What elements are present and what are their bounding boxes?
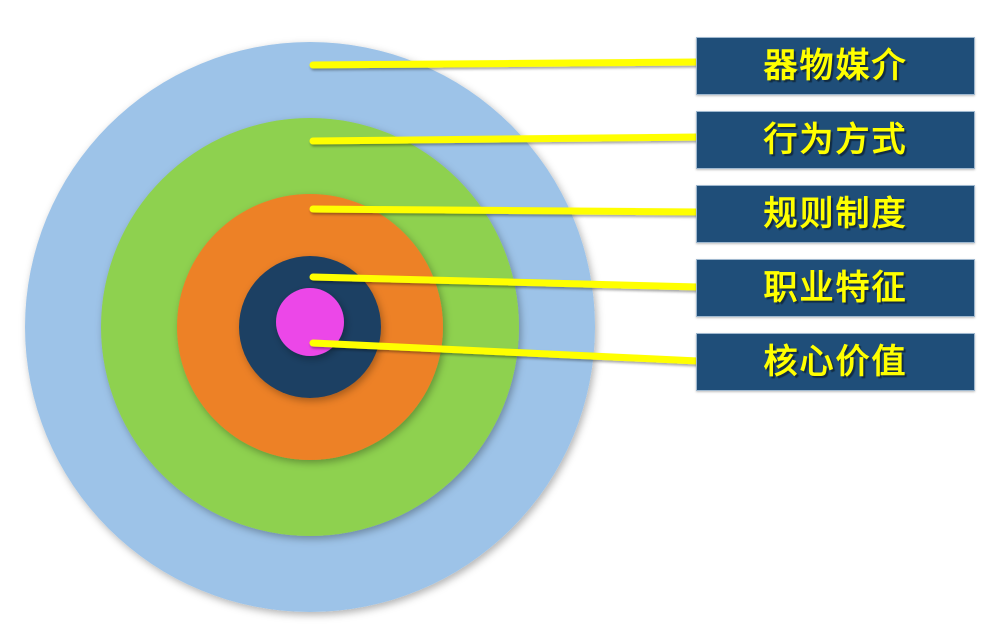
label-text-hexin-jiazhi: 核心价值 — [764, 345, 908, 379]
label-box-xingwei-fangshi[interactable]: 行为方式 — [696, 111, 975, 169]
label-text-qiwu-meijie: 器物媒介 — [764, 49, 908, 83]
ring-group — [25, 42, 595, 612]
label-box-guize-zhidu[interactable]: 规则制度 — [696, 185, 975, 243]
leader-line-1 — [313, 62, 698, 65]
label-box-qiwu-meijie[interactable]: 器物媒介 — [696, 37, 975, 95]
label-text-guize-zhidu: 规则制度 — [764, 197, 908, 231]
label-text-zhiye-tezheng: 职业特征 — [764, 271, 908, 305]
diagram-canvas: 器物媒介 行为方式 规则制度 职业特征 核心价值 — [0, 0, 998, 626]
label-box-zhiye-tezheng[interactable]: 职业特征 — [696, 259, 975, 317]
label-text-xingwei-fangshi: 行为方式 — [764, 123, 908, 157]
label-box-hexin-jiazhi[interactable]: 核心价值 — [696, 333, 975, 391]
leader-line-3 — [313, 209, 698, 212]
leader-line-2 — [313, 137, 698, 141]
